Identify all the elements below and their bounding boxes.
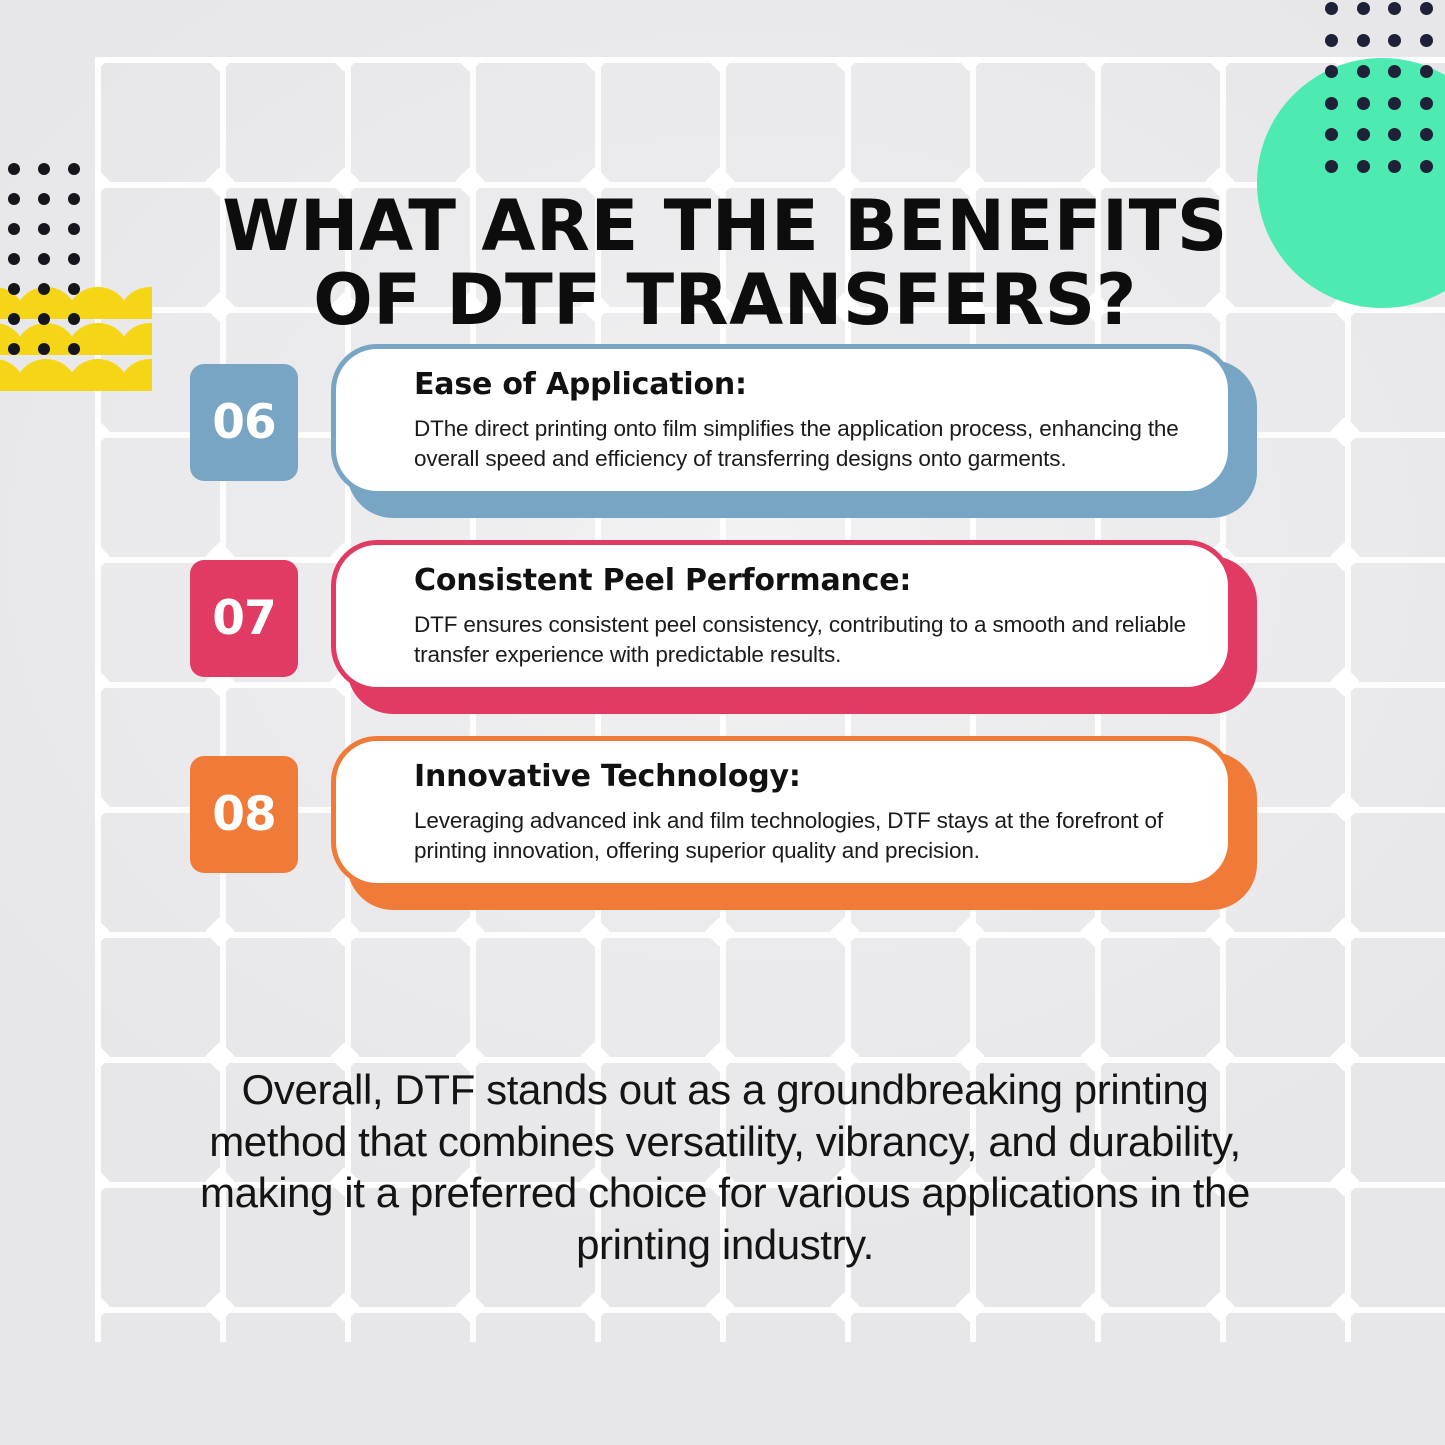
decoration-dot xyxy=(68,283,80,295)
decoration-dot xyxy=(8,283,20,295)
grid-diamond xyxy=(829,57,860,73)
decoration-dot xyxy=(38,343,50,355)
yellow-half-circle xyxy=(118,287,152,319)
decoration-dot xyxy=(1325,160,1338,173)
grid-diamond xyxy=(95,1166,111,1197)
decoration-dot xyxy=(1420,2,1433,15)
grid-diamond xyxy=(1329,1291,1360,1322)
decoration-dot xyxy=(1357,160,1370,173)
decoration-dot xyxy=(1325,65,1338,78)
grid-diamond xyxy=(579,57,610,73)
decoration-dot xyxy=(1357,2,1370,15)
decoration-dot xyxy=(1325,128,1338,141)
card-panel: Innovative Technology:Leveraging advance… xyxy=(331,736,1233,888)
decoration-dot xyxy=(1357,97,1370,110)
decoration-dot xyxy=(1420,160,1433,173)
decoration-dot xyxy=(1388,128,1401,141)
decoration-dot xyxy=(68,253,80,265)
grid-diamond xyxy=(95,57,111,73)
grid-diamond xyxy=(1079,57,1110,73)
decoration-dot xyxy=(8,223,20,235)
grid-diamond xyxy=(829,1291,860,1322)
grid-diamond xyxy=(454,1291,485,1322)
decoration-dot xyxy=(38,283,50,295)
decoration-dot xyxy=(1420,97,1433,110)
benefit-card: 07Consistent Peel Performance:DTF ensure… xyxy=(0,532,1445,728)
decoration-dot xyxy=(38,193,50,205)
decoration-dot xyxy=(1357,65,1370,78)
card-number-badge: 06 xyxy=(190,364,298,481)
decoration-dot xyxy=(38,223,50,235)
decoration-dot xyxy=(1388,160,1401,173)
decoration-dot xyxy=(8,163,20,175)
card-number-badge: 07 xyxy=(190,560,298,677)
decoration-dot xyxy=(68,343,80,355)
card-panel: Ease of Application:DThe direct printing… xyxy=(331,344,1233,496)
card-title: Ease of Application: xyxy=(414,367,1190,402)
card-number-badge: 08 xyxy=(190,756,298,873)
grid-diamond xyxy=(1079,1291,1110,1322)
decoration-dot xyxy=(38,253,50,265)
page-title: WHAT ARE THE BENEFITS OF DTF TRANSFERS? xyxy=(160,189,1290,337)
grid-diamond xyxy=(95,1041,111,1072)
grid-diamond xyxy=(454,57,485,73)
card-body-text: DThe direct printing onto film simplifie… xyxy=(414,414,1190,474)
decoration-dot xyxy=(68,313,80,325)
decoration-dot xyxy=(1420,65,1433,78)
benefit-cards-list: 06Ease of Application:DThe direct printi… xyxy=(0,336,1445,924)
decoration-dot xyxy=(8,253,20,265)
grid-diamond xyxy=(95,1291,111,1322)
yellow-half-circles-decoration xyxy=(0,283,152,393)
decoration-dot xyxy=(38,163,50,175)
decoration-dot xyxy=(1325,34,1338,47)
grid-diamond xyxy=(1204,57,1235,73)
grid-diamond xyxy=(204,57,235,73)
decoration-dot xyxy=(1325,2,1338,15)
card-panel: Consistent Peel Performance:DTF ensures … xyxy=(331,540,1233,692)
card-body-text: Leveraging advanced ink and film technol… xyxy=(414,806,1190,866)
decoration-dot xyxy=(1357,128,1370,141)
grid-diamond xyxy=(704,1291,735,1322)
decoration-dot xyxy=(1325,97,1338,110)
decoration-dot xyxy=(8,343,20,355)
decoration-dot xyxy=(1388,65,1401,78)
yellow-half-circle xyxy=(118,323,152,355)
decoration-dot xyxy=(1388,97,1401,110)
grid-diamond xyxy=(204,1291,235,1322)
grid-diamond xyxy=(329,57,360,73)
grid-diamond xyxy=(329,1291,360,1322)
grid-diamond xyxy=(579,1291,610,1322)
decoration-dot xyxy=(38,313,50,325)
card-body-text: DTF ensures consistent peel consistency,… xyxy=(414,610,1190,670)
decoration-dot xyxy=(68,193,80,205)
decoration-dot xyxy=(8,313,20,325)
decoration-dot xyxy=(1420,34,1433,47)
grid-diamond xyxy=(1329,1166,1360,1197)
benefit-card: 06Ease of Application:DThe direct printi… xyxy=(0,336,1445,532)
grid-diamond xyxy=(95,166,111,197)
decoration-dot xyxy=(1357,34,1370,47)
decoration-dot xyxy=(1388,34,1401,47)
grid-diamond xyxy=(954,1291,985,1322)
grid-diamond xyxy=(954,57,985,73)
grid-diamond xyxy=(1329,1041,1360,1072)
card-title: Innovative Technology: xyxy=(414,759,1190,794)
yellow-half-circle-row xyxy=(0,355,152,391)
decoration-dot xyxy=(1420,128,1433,141)
decoration-dot xyxy=(68,223,80,235)
decoration-dot xyxy=(1388,2,1401,15)
benefit-card: 08Innovative Technology:Leveraging advan… xyxy=(0,728,1445,924)
yellow-half-circle xyxy=(118,359,152,391)
grid-diamond xyxy=(1204,1291,1235,1322)
card-title: Consistent Peel Performance: xyxy=(414,563,1190,598)
grid-diamond xyxy=(704,57,735,73)
infographic-poster: WHAT ARE THE BENEFITS OF DTF TRANSFERS? … xyxy=(0,0,1445,1445)
decoration-dot xyxy=(68,163,80,175)
decoration-dot xyxy=(8,193,20,205)
closing-paragraph: Overall, DTF stands out as a groundbreak… xyxy=(175,1064,1275,1271)
